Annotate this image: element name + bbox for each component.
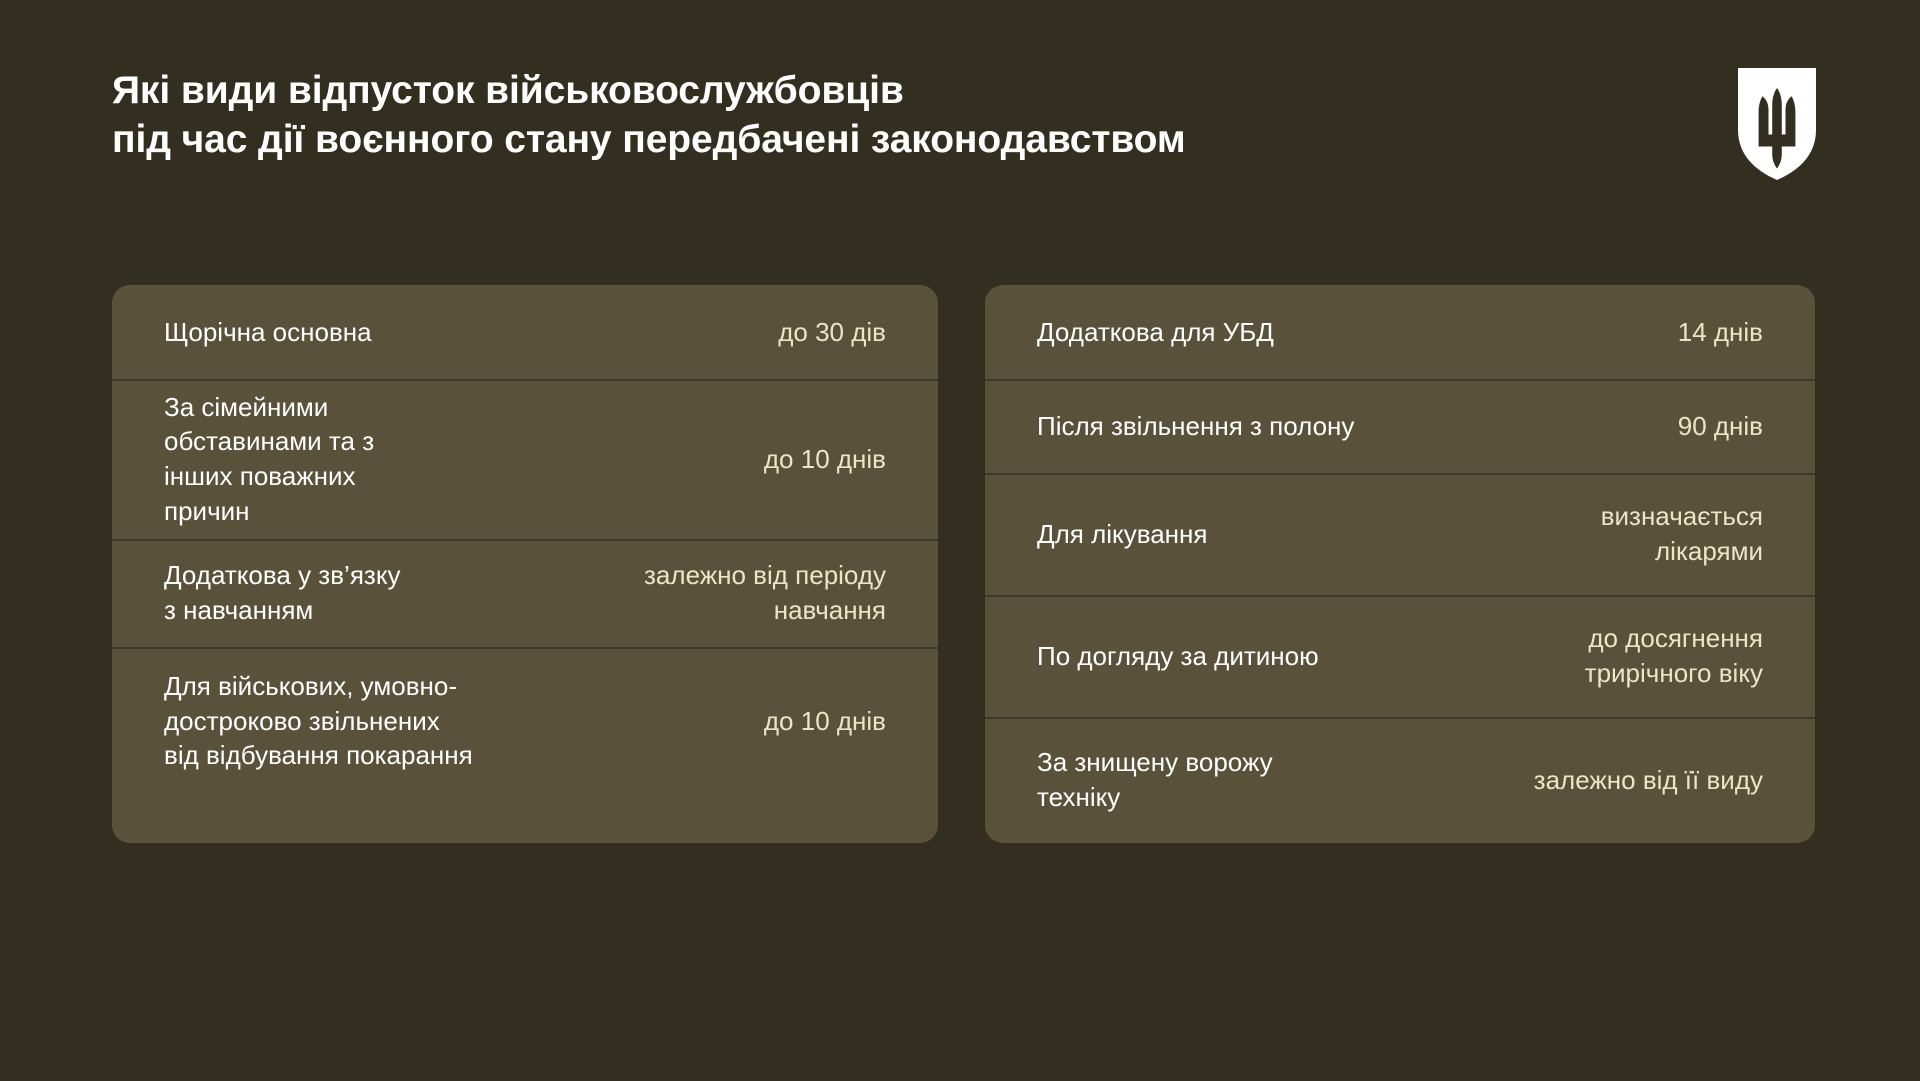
leave-row: Для військових, умовно- достроково звіль… [112, 647, 938, 795]
leave-duration-value: визначається лікарями [1601, 499, 1763, 568]
left-column-card: Щорічна основна до 30 дів За сімейними о… [112, 285, 938, 843]
leave-type-label: Після звільнення з полону [1037, 409, 1372, 444]
leave-duration-value: залежно від періоду навчання [644, 558, 886, 627]
leave-row: Додаткова у зв’язку з навчанням залежно … [112, 539, 938, 647]
leave-type-label: Щорічна основна [164, 315, 390, 350]
leave-duration-value: залежно від її виду [1534, 763, 1763, 798]
leave-row: Після звільнення з полону 90 днів [985, 379, 1815, 473]
cards-container: Щорічна основна до 30 дів За сімейними о… [112, 285, 1815, 843]
leave-row: За знищену ворожу техніку залежно від її… [985, 717, 1815, 843]
leave-type-label: Для лікування [1037, 517, 1225, 552]
page-title-line-1: Які види відпусток військовослужбовців [112, 66, 1186, 115]
leave-type-label: По догляду за дитиною [1037, 639, 1337, 674]
leave-duration-value: 90 днів [1678, 409, 1763, 444]
leave-duration-value: до 30 дів [778, 315, 886, 350]
leave-type-label: За знищену ворожу техніку [1037, 745, 1291, 814]
ukraine-armed-forces-trident-shield-icon [1738, 68, 1816, 180]
leave-type-label: Для військових, умовно- достроково звіль… [164, 669, 491, 773]
leave-duration-value: 14 днів [1678, 315, 1763, 350]
infographic-page: Які види відпусток військовослужбовців п… [0, 0, 1920, 1081]
leave-row: За сімейними обставинами та з інших пова… [112, 379, 938, 539]
leave-type-label: Додаткова у зв’язку з навчанням [164, 558, 419, 627]
leave-type-label: За сімейними обставинами та з інших пова… [164, 390, 392, 528]
leave-duration-value: до досягнення трирічного віку [1585, 621, 1763, 690]
leave-row: Для лікування визначається лікарями [985, 473, 1815, 595]
leave-row: Щорічна основна до 30 дів [112, 285, 938, 379]
right-column-card: Додаткова для УБД 14 днів Після звільнен… [985, 285, 1815, 843]
leave-row: По догляду за дитиною до досягнення трир… [985, 595, 1815, 717]
leave-type-label: Додаткова для УБД [1037, 315, 1292, 350]
leave-duration-value: до 10 днів [764, 704, 886, 739]
leave-row: Додаткова для УБД 14 днів [985, 285, 1815, 379]
page-title: Які види відпусток військовослужбовців п… [112, 66, 1186, 164]
page-title-line-2: під час дії воєнного стану передбачені з… [112, 115, 1186, 164]
header: Які види відпусток військовослужбовців п… [112, 66, 1816, 180]
leave-duration-value: до 10 днів [764, 442, 886, 477]
